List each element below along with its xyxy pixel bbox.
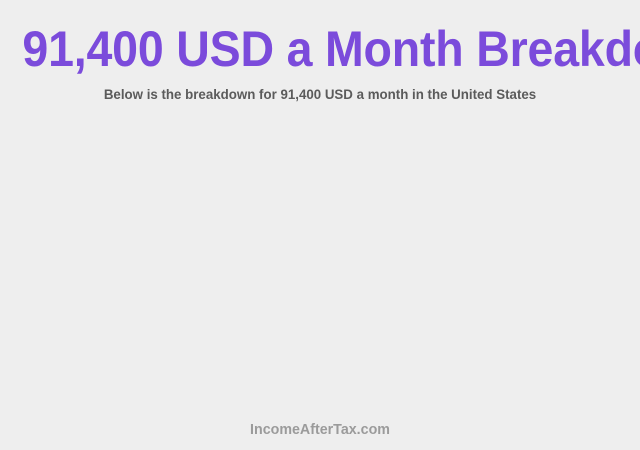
page-subtitle: Below is the breakdown for 91,400 USD a … [16, 85, 624, 103]
site-attribution: IncomeAfterTax.com [16, 421, 624, 439]
income-breakdown-page: 91,400 USD a Month Breakdown Below is th… [0, 0, 640, 450]
chart-plot-area [0, 112, 640, 407]
page-title: 91,400 USD a Month Breakdown [22, 21, 617, 77]
